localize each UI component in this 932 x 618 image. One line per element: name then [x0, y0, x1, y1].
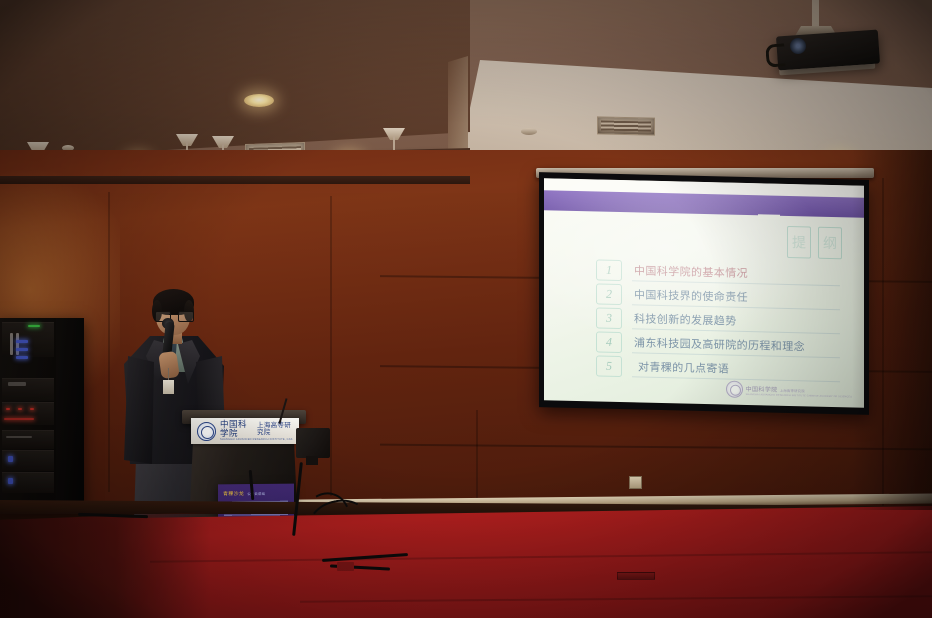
wall-seam-v2 [330, 196, 332, 496]
rack-knob-row [6, 436, 32, 438]
agenda-item-label: 浦东科技园及高研院的历程和理念 [634, 334, 805, 354]
rack-led-blue-5 [8, 478, 13, 484]
agenda-item-number: 1 [596, 259, 622, 281]
speaker-arm-left [124, 356, 154, 464]
slide-institution-logo: 中国科学院 上海高等研究院 SHANGHAI ADVANCED RESEARCH… [726, 381, 852, 401]
slide-logo-text: 中国科学院 上海高等研究院 SHANGHAI ADVANCED RESEARCH… [746, 383, 852, 398]
rack-display-1 [8, 382, 26, 386]
podium-sign-secondary: 上海高等研究院 [257, 423, 293, 436]
rack-led-blue-1 [16, 340, 28, 343]
agenda-item-number: 4 [596, 331, 622, 353]
rack-led-red-3 [30, 408, 34, 410]
ceiling-soffit [0, 0, 470, 150]
wall-seam-v1 [476, 410, 478, 506]
slide-body: 提 纲 1 中国科学院的基本情况 2 中国科技界的使命责任 3 科技创新的发展趋… [544, 214, 864, 408]
agenda-item-number: 3 [596, 307, 622, 329]
academy-seal-icon [726, 381, 743, 398]
ceiling-air-vent-right [597, 116, 655, 135]
floor-cable-plate [617, 572, 655, 580]
rack-led-blue-3 [16, 356, 28, 359]
confidence-monitor [296, 428, 330, 458]
slide-title-char-1: 提 [787, 226, 811, 259]
rack-led-blue-4 [8, 456, 13, 462]
glasses-lens-right [178, 311, 194, 322]
slide-title-boxes: 提 纲 [787, 226, 842, 259]
rack-unit-3 [2, 402, 54, 425]
slide-agenda-list: 1 中国科学院的基本情况 2 中国科技界的使命责任 3 科技创新的发展趋势 4 … [596, 257, 840, 383]
wall-seam-v4 [882, 178, 884, 508]
wall-upper-trim [0, 176, 470, 184]
downlight-1 [244, 94, 274, 107]
rack-fader-2 [16, 333, 19, 355]
rack-led-red-2 [18, 408, 22, 410]
projector-mount-arm [765, 43, 786, 67]
agenda-item-label: 科技创新的发展趋势 [634, 310, 737, 328]
podium-sign-text: 中国科学院 上海高等研究院 SHANGHAI ADVANCED RESEARCH… [220, 420, 293, 442]
speaker-name-badge [163, 380, 174, 394]
agenda-item: 5 对青稞的几点寄语 [596, 353, 840, 383]
podium-academy-seal-icon [197, 422, 216, 441]
rack-unit-4 [2, 430, 54, 449]
podium-sign-subtext: SHANGHAI ADVANCED RESEARCH INSTITUTE, CA… [220, 439, 293, 442]
slide-title-char-2: 纲 [818, 227, 842, 260]
wall-outlet-plate [629, 476, 642, 489]
agenda-item-number: 5 [596, 355, 622, 377]
agenda-item-number: 2 [596, 283, 622, 305]
av-rack-side-panel [56, 318, 84, 508]
speaker-glasses [155, 311, 192, 320]
rack-led-blue-2 [16, 348, 28, 351]
wall-seam-v3 [108, 192, 110, 492]
rack-led-red-1 [6, 408, 10, 410]
projected-slide: 提 纲 1 中国科学院的基本情况 2 中国科技界的使命责任 3 科技创新的发展趋… [544, 178, 864, 408]
glasses-bridge [169, 314, 178, 315]
poster-title: 青稞沙龙 [223, 490, 244, 497]
rack-fader-1 [10, 333, 13, 355]
smoke-detector-1 [521, 128, 537, 135]
podium-sign-primary: 中国科学院 [220, 420, 254, 437]
rack-led-meter [4, 418, 34, 420]
projector-mount-pole [812, 0, 819, 30]
agenda-item-label: 对青稞的几点寄语 [638, 358, 729, 376]
podium-sign: 中国科学院 上海高等研究院 SHANGHAI ADVANCED RESEARCH… [191, 418, 299, 444]
rack-led-power [28, 325, 40, 327]
presentation-photo-scene: 提 纲 1 中国科学院的基本情况 2 中国科技界的使命责任 3 科技创新的发展趋… [0, 0, 932, 618]
slide-logo-secondary: 上海高等研究院 [780, 388, 805, 393]
poster-header: 青稞沙龙 公益云讲坛 [223, 488, 289, 499]
cable-connector-box [337, 562, 354, 571]
confidence-monitor-stand [306, 456, 318, 465]
agenda-item-label: 中国科技界的使命责任 [634, 286, 748, 305]
agenda-item-label: 中国科学院的基本情况 [634, 262, 748, 281]
